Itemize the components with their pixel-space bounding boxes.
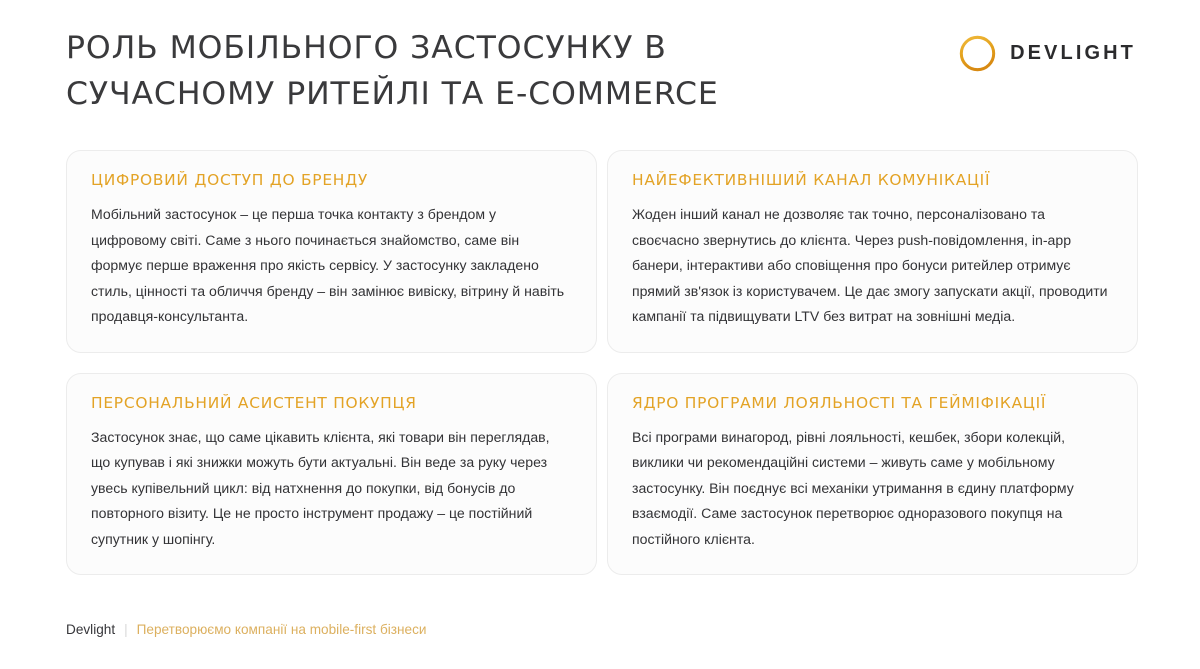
slide-header: РОЛЬ МОБІЛЬНОГО ЗАСТОСУНКУ В СУЧАСНОМУ Р… [0, 0, 1200, 130]
feature-card: НАЙЕФЕКТИВНІШИЙ КАНАЛ КОМУНІКАЦІЇ Жоден … [607, 150, 1138, 353]
footer-tagline: Перетворюємо компанії на mobile-first бі… [137, 622, 427, 637]
feature-card-title: ЦИФРОВИЙ ДОСТУП ДО БРЕНДУ [91, 171, 572, 189]
footer-separator: | [124, 622, 128, 637]
brand-logo: DEVLIGHT [958, 34, 1136, 73]
feature-card-title: ЯДРО ПРОГРАМИ ЛОЯЛЬНОСТІ ТА ГЕЙМІФІКАЦІЇ [632, 394, 1113, 412]
feature-card: ПЕРСОНАЛЬНИЙ АСИСТЕНТ ПОКУПЦЯ Застосунок… [66, 373, 597, 576]
feature-card-grid: ЦИФРОВИЙ ДОСТУП ДО БРЕНДУ Мобільний заст… [66, 150, 1136, 575]
feature-card-body: Жоден інший канал не дозволяє так точно,… [632, 202, 1113, 330]
feature-card-title: ПЕРСОНАЛЬНИЙ АСИСТЕНТ ПОКУПЦЯ [91, 394, 572, 412]
feature-card-body: Мобільний застосунок – це перша точка ко… [91, 202, 572, 330]
feature-card-body: Всі програми винагород, рівні лояльності… [632, 425, 1113, 553]
slide-footer: Devlight | Перетворюємо компанії на mobi… [66, 622, 426, 637]
page-title: РОЛЬ МОБІЛЬНОГО ЗАСТОСУНКУ В СУЧАСНОМУ Р… [66, 26, 826, 118]
footer-brand: Devlight [66, 622, 115, 637]
brand-wordmark: DEVLIGHT [1010, 42, 1136, 65]
feature-card-title: НАЙЕФЕКТИВНІШИЙ КАНАЛ КОМУНІКАЦІЇ [632, 171, 1113, 189]
ring-logo-icon [958, 34, 997, 73]
slide-root: РОЛЬ МОБІЛЬНОГО ЗАСТОСУНКУ В СУЧАСНОМУ Р… [0, 0, 1200, 669]
feature-card: ЯДРО ПРОГРАМИ ЛОЯЛЬНОСТІ ТА ГЕЙМІФІКАЦІЇ… [607, 373, 1138, 576]
feature-card: ЦИФРОВИЙ ДОСТУП ДО БРЕНДУ Мобільний заст… [66, 150, 597, 353]
feature-card-body: Застосунок знає, що саме цікавить клієнт… [91, 425, 572, 553]
